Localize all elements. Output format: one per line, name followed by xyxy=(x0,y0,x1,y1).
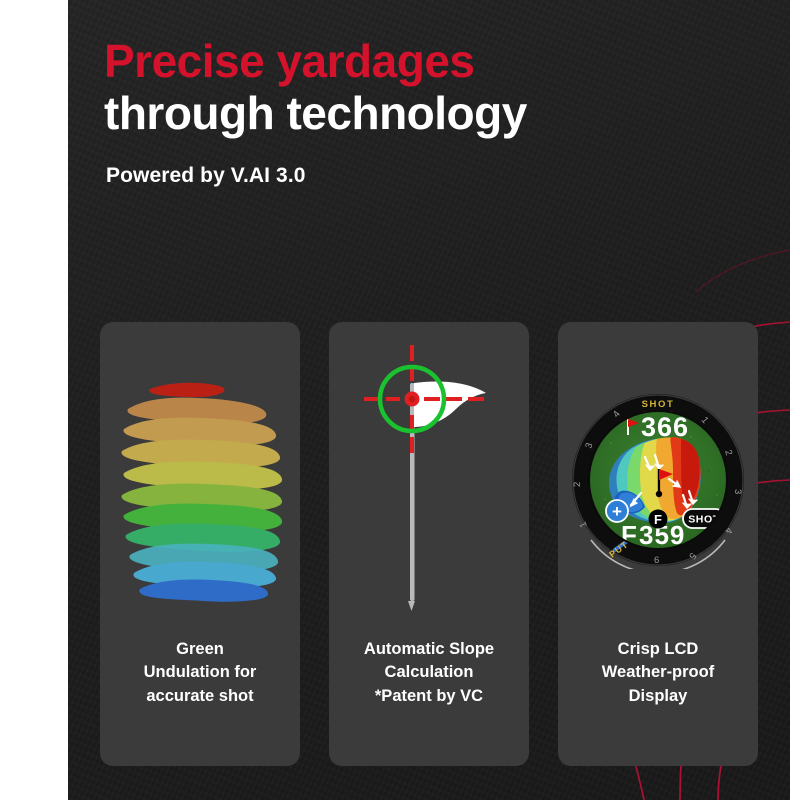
bezel-num: 6 xyxy=(654,555,659,566)
headline-line-2: through technology xyxy=(104,88,764,140)
golf-watch-graphic: 4 3 2 1 1 2 3 4 6 5 SHOT xyxy=(571,391,745,569)
flag-banner xyxy=(414,381,486,427)
flagstick-crosshair-graphic xyxy=(344,335,514,625)
contour-stack-graphic xyxy=(110,355,290,605)
bezel-num: 2 xyxy=(572,482,583,487)
caption-line: Display xyxy=(564,685,752,708)
caption-line: Calculation xyxy=(335,661,523,684)
watch-plus-label: + xyxy=(612,502,622,521)
caption-line: Undulation for xyxy=(106,661,294,684)
feature-card-row: Green Undulation for accurate shot xyxy=(100,322,758,766)
card-art-watch: 4 3 2 1 1 2 3 4 6 5 SHOT xyxy=(558,322,758,638)
headline-line-1: Precise yardages xyxy=(104,36,764,88)
feature-card-green-undulation[interactable]: Green Undulation for accurate shot xyxy=(100,322,300,766)
caption-line: accurate shot xyxy=(106,685,294,708)
caption-line: *Patent by VC xyxy=(335,685,523,708)
watch-plus-button: + xyxy=(606,500,628,522)
card-caption-automatic-slope: Automatic Slope Calculation *Patent by V… xyxy=(329,638,529,708)
card-art-contour-stack xyxy=(100,322,300,638)
card-caption-crisp-lcd: Crisp LCD Weather-proof Display xyxy=(558,638,758,708)
promo-page: Precise yardages through technology Powe… xyxy=(0,0,800,800)
watch-distance-top-value: 366 xyxy=(641,412,689,442)
watch-shot-label: SHOT xyxy=(642,399,675,410)
card-caption-green-undulation: Green Undulation for accurate shot xyxy=(100,638,300,708)
dark-panel: Precise yardages through technology Powe… xyxy=(68,0,790,800)
feature-card-automatic-slope[interactable]: Automatic Slope Calculation *Patent by V… xyxy=(329,322,529,766)
bezel-num: 3 xyxy=(732,489,743,494)
caption-line: Green xyxy=(106,638,294,661)
subtitle: Powered by V.AI 3.0 xyxy=(106,164,764,188)
caption-line: Weather-proof xyxy=(564,661,752,684)
caption-line: Automatic Slope xyxy=(335,638,523,661)
card-art-flagstick xyxy=(329,322,529,638)
watch-front-marker: F xyxy=(649,510,668,529)
headline-block: Precise yardages through technology Powe… xyxy=(104,36,764,188)
watch-front-marker-label: F xyxy=(654,512,662,527)
caption-line: Crisp LCD xyxy=(564,638,752,661)
feature-card-crisp-lcd[interactable]: 4 3 2 1 1 2 3 4 6 5 SHOT xyxy=(558,322,758,766)
